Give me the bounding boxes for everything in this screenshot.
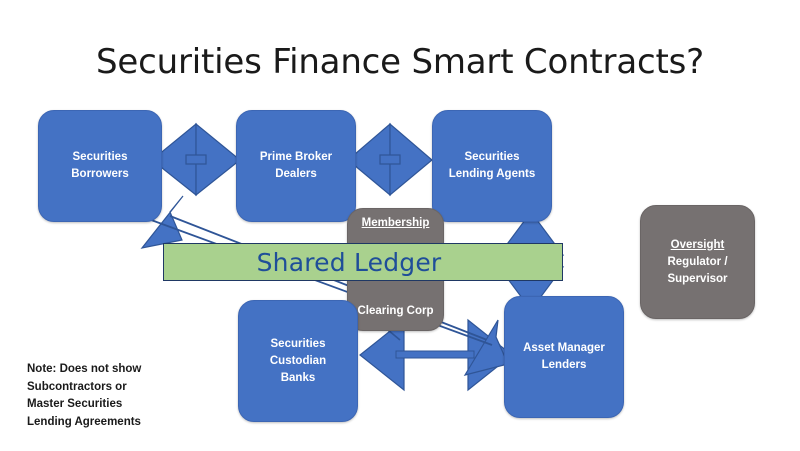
- footnote-line: Note: Does not show: [27, 361, 207, 379]
- node-label-line: Prime Broker: [260, 149, 332, 166]
- node-securities-borrowers[interactable]: Securities Borrowers: [38, 110, 162, 222]
- footnote-line: Master Securities: [27, 396, 207, 414]
- node-label-line: Securities: [465, 149, 520, 166]
- node-label-line: Clearing Corp: [357, 303, 433, 320]
- node-label-line: Lending Agents: [449, 166, 535, 183]
- footnote: Note: Does not show Subcontractors or Ma…: [27, 361, 207, 431]
- shared-ledger-banner[interactable]: Shared Ledger: [163, 243, 563, 281]
- node-label-line: Dealers: [275, 166, 317, 183]
- node-oversight-regulator-supervisor[interactable]: Oversight Regulator / Supervisor: [640, 205, 755, 319]
- arrow-primebroker-lendingagents: [348, 124, 432, 195]
- footnote-line: Lending Agreements: [27, 414, 207, 432]
- node-label-line: Supervisor: [667, 271, 727, 288]
- node-label-line: Asset Manager: [523, 340, 605, 357]
- slide-canvas: Securities Finance Smart Contracts?: [0, 0, 800, 451]
- node-label-line: Lenders: [542, 357, 587, 374]
- node-securities-lending-agents[interactable]: Securities Lending Agents: [432, 110, 552, 222]
- node-label-line: Oversight: [671, 237, 725, 254]
- node-prime-broker-dealers[interactable]: Prime Broker Dealers: [236, 110, 356, 222]
- node-label-line: Securities: [73, 149, 128, 166]
- node-label-line: Custodian: [270, 353, 326, 370]
- node-label-line: Securities: [271, 336, 326, 353]
- footnote-line: Subcontractors or: [27, 379, 207, 397]
- shared-ledger-label: Shared Ledger: [257, 248, 442, 277]
- node-label-line: Borrowers: [71, 166, 129, 183]
- arrow-borrowers-primebroker: [152, 124, 240, 195]
- node-label-line: Membership: [362, 215, 430, 232]
- node-label-line: Banks: [281, 370, 316, 387]
- node-asset-manager-lenders[interactable]: Asset Manager Lenders: [504, 296, 624, 418]
- node-label-line: Regulator /: [667, 254, 727, 271]
- node-securities-custodian-banks[interactable]: Securities Custodian Banks: [238, 300, 358, 422]
